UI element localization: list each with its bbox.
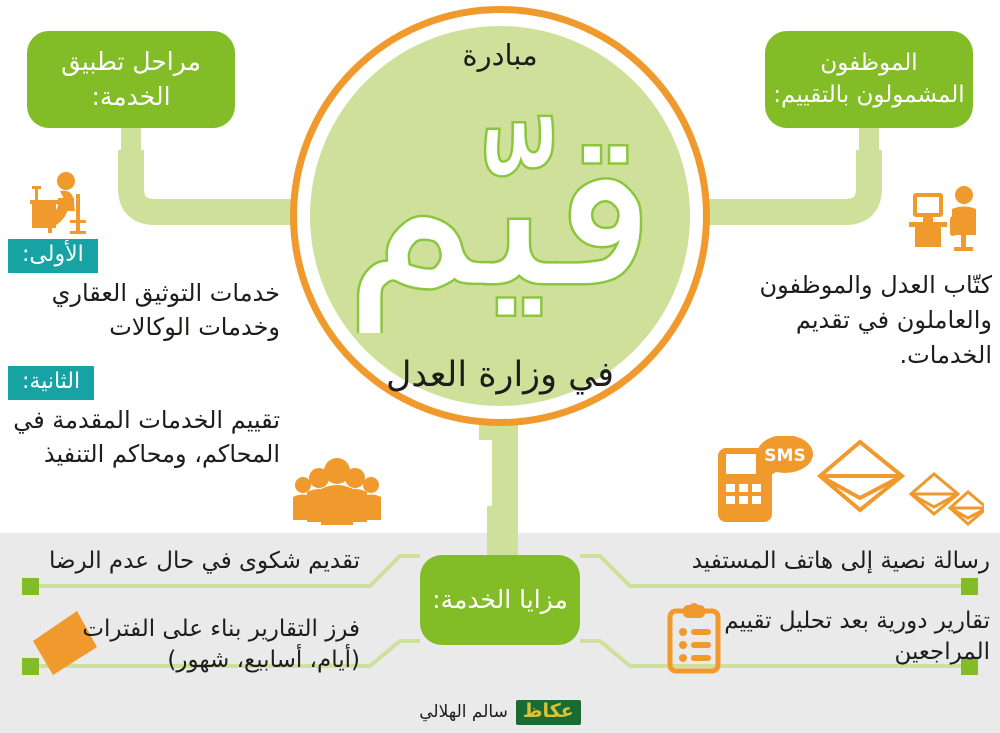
stage-2-text: تقييم الخدمات المقدمة في المحاكم، ومحاكم… <box>12 403 280 471</box>
top-right-box-label: الموظفون المشمولون بالتقييم: <box>765 48 973 111</box>
okaz-logo: عكاظ <box>516 700 581 725</box>
svg-text:قيّم: قيّم <box>345 83 656 333</box>
connector-stem-top-left <box>121 126 141 174</box>
computer-worker-icon <box>905 183 987 253</box>
qayyim-logo-icon: قيّم <box>310 78 690 333</box>
stage-1-badge: الأولى: <box>8 239 98 273</box>
footer-credit: عكاظ سالم الهلالي <box>0 700 1000 725</box>
connector-stem-top-right <box>859 126 879 174</box>
sms-phone-icon: SMS <box>718 436 984 528</box>
stage-2-badge: الثانية: <box>8 366 94 400</box>
infographic-canvas: مبادرة قيّم في وزارة العدل مراحل تطبيق ا… <box>0 0 1000 733</box>
center-logo: قيّم <box>310 78 690 333</box>
top-right-box[interactable]: الموظفون المشمولون بالتقييم: <box>765 31 973 128</box>
people-group-icon <box>288 455 386 527</box>
top-left-box-label: مراحل تطبيق الخدمة: <box>27 45 235 114</box>
svg-text:SMS: SMS <box>764 446 805 466</box>
benefit-right-1: رسالة نصية إلى هاتف المستفيد <box>660 546 990 577</box>
connector-stem-bottom <box>487 506 509 558</box>
benefit-left-2: فرز التقارير بناء على الفترات (أيام، أسا… <box>30 614 360 676</box>
stage-1-badge-label: الأولى: <box>22 242 84 267</box>
benefit-left-1: تقديم شكوى في حال عدم الرضا <box>30 546 360 577</box>
stage-1-text: خدمات التوثيق العقاري وخدمات الوكالات <box>12 276 280 344</box>
bottom-center-box-label: مزايا الخدمة: <box>432 583 568 618</box>
top-left-box[interactable]: مراحل تطبيق الخدمة: <box>27 31 235 128</box>
bottom-center-box[interactable]: مزايا الخدمة: <box>420 555 580 645</box>
center-top-label: مبادرة <box>310 38 690 72</box>
footer-author: سالم الهلالي <box>419 702 508 722</box>
stage-2-badge-label: الثانية: <box>22 369 80 394</box>
benefit-right-2: تقارير دورية بعد تحليل تقييم المراجعين <box>660 606 990 668</box>
desk-worker-icon <box>18 170 92 236</box>
employees-text: كتّاب العدل والموظفون والعاملون في تقديم… <box>742 268 992 372</box>
center-bottom-label: في وزارة العدل <box>310 355 690 395</box>
